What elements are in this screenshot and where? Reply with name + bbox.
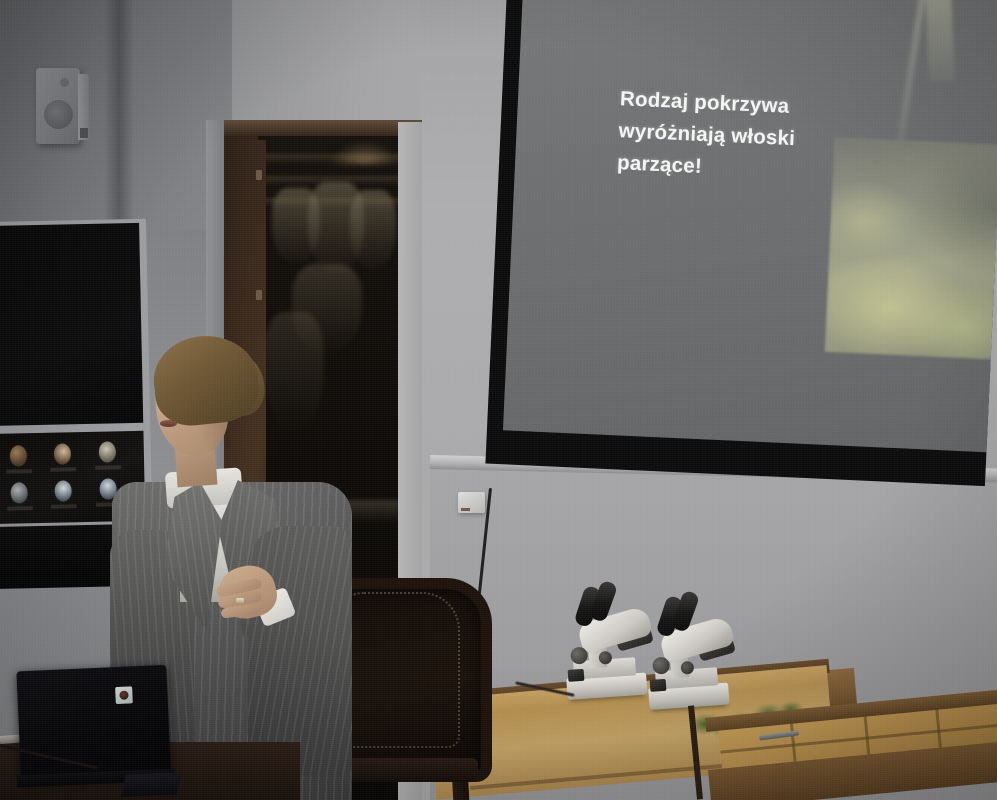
laptop[interactable] [2,657,176,800]
door-hinge-2 [256,290,262,300]
door-lintel [224,120,422,136]
slide-text: Rodzaj pokrzywa wyróżniają włoski parząc… [616,83,870,190]
speaker-tweeter-icon [60,78,69,87]
specimen-label-5 [51,504,77,509]
door-hinge-1 [256,170,262,180]
specimen-4 [10,482,27,503]
doorway-light-glow [330,140,400,164]
wall-socket-slot [461,508,470,511]
specimen-2 [54,443,71,464]
laptop-lid [16,665,171,781]
microscope-right-illuminator [650,679,667,692]
slide-photo-leaf [923,0,954,82]
presenter-arm-right [248,526,352,776]
lecture-room-photo: Rodzaj pokrzywa wyróżniają włoski parząc… [0,0,997,800]
speaker-bracket-tip [80,128,88,138]
screen-surface: Rodzaj pokrzywa wyróżniają włoski parząc… [503,0,997,452]
specimen-label-4 [7,506,33,511]
microscope-right [642,595,750,714]
wall-speaker-icon [36,68,80,144]
specimen-label-1 [6,469,32,474]
speaker-cone-icon [44,100,73,129]
specimen-1 [10,445,27,466]
projection-screen: Rodzaj pokrzywa wyróżniają włoski parząc… [485,0,997,486]
specimen-5 [54,480,71,501]
presenter-ring [236,598,244,603]
laptop-keyboard[interactable] [121,772,182,797]
wall-corner-seam [104,0,134,232]
microscope-left-illuminator [568,669,585,682]
hanging-herb-3 [350,190,396,270]
specimen-label-2 [50,467,76,472]
